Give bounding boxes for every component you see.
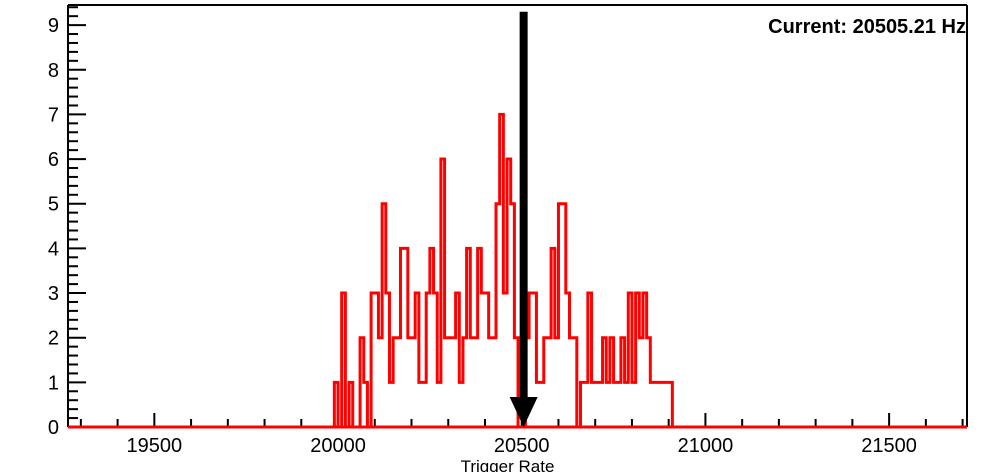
- x-tick-label: 21000: [678, 435, 734, 457]
- histogram-outline: [334, 114, 679, 427]
- current-rate-title: Current: 20505.21 Hz: [768, 16, 966, 39]
- y-tick-label: 8: [48, 60, 59, 82]
- y-tick-label: 3: [48, 283, 59, 305]
- y-tick-label: 9: [48, 15, 59, 37]
- x-tick-label: 21500: [861, 435, 917, 457]
- y-tick-label: 7: [48, 104, 59, 126]
- x-tick-label: 20500: [494, 435, 550, 457]
- x-tick-label: 19500: [127, 435, 183, 457]
- x-tick-label: 20000: [310, 435, 366, 457]
- plot-svg: 01234567891950020000205002100021500Trigg…: [0, 0, 996, 472]
- y-tick-label: 0: [48, 417, 59, 439]
- y-tick-label: 5: [48, 194, 59, 216]
- y-tick-label: 1: [48, 372, 59, 394]
- y-tick-label: 2: [48, 328, 59, 350]
- current-rate-arrow-head: [510, 397, 538, 427]
- histogram-canvas: 01234567891950020000205002100021500Trigg…: [0, 0, 996, 472]
- y-tick-label: 4: [48, 238, 59, 260]
- x-axis-label: Trigger Rate: [461, 457, 555, 472]
- y-tick-label: 6: [48, 149, 59, 171]
